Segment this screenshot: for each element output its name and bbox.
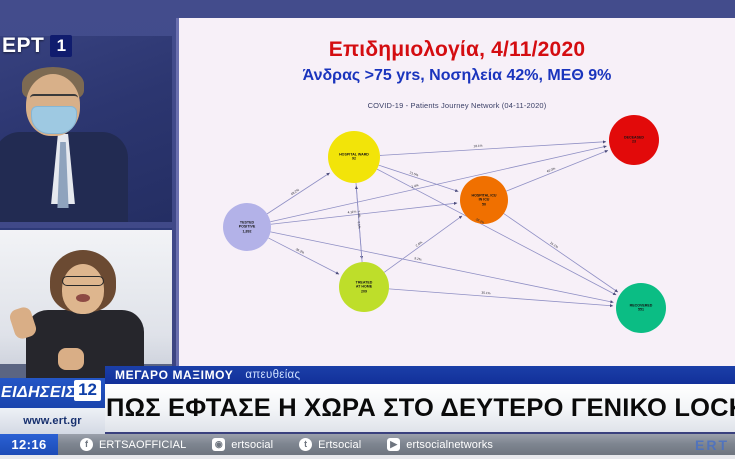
interpreter-face bbox=[62, 264, 104, 314]
network-node-tested_positive[interactable] bbox=[223, 203, 271, 251]
patient-journey-network: 48.2%4.11%36.2%1.4%9.2%31.5%18.1%7.3%38.… bbox=[179, 112, 735, 347]
sign-language-video-panel bbox=[0, 228, 172, 380]
social-media-bar: 12:16 fERTSAOFFICIAL◉ertsocialtErtsocial… bbox=[0, 434, 735, 455]
network-edge bbox=[271, 232, 614, 303]
social-account[interactable]: tErtsocial bbox=[299, 438, 361, 451]
network-edge bbox=[506, 150, 608, 191]
footer-line bbox=[0, 455, 735, 459]
social-account[interactable]: ▶ertsocialnetworks bbox=[387, 438, 493, 451]
program-badge: ΕΙΔΗΣΕΙΣ 12 www.ert.gr bbox=[0, 378, 105, 434]
slide-subtitle: Άνδρας >75 yrs, Νοσηλεία 42%, ΜΕΘ 9% bbox=[179, 67, 735, 85]
social-account-name: Ertsocial bbox=[318, 439, 361, 451]
network-edge bbox=[271, 203, 457, 224]
location-label: ΜΕΓΑΡΟ ΜΑΞΙΜΟΥ bbox=[115, 368, 233, 382]
social-account-name: ertsocialnetworks bbox=[406, 439, 493, 451]
social-account[interactable]: ◉ertsocial bbox=[212, 438, 273, 451]
presentation-slide: Επιδημιολογία, 4/11/2020 Άνδρας >75 yrs,… bbox=[176, 18, 735, 366]
channel-logo: ΕΡΤ 1 bbox=[0, 32, 72, 60]
slide-title: Επιδημιολογία, 4/11/2020 bbox=[179, 38, 735, 62]
network-svg bbox=[179, 112, 735, 347]
website-row: www.ert.gr bbox=[0, 408, 105, 434]
location-strip: ΜΕΓΑΡΟ ΜΑΞΙΜΟΥ απευθείας bbox=[105, 366, 735, 384]
website-label: www.ert.gr bbox=[23, 415, 81, 427]
social-account-name: ERTSAOFFICIAL bbox=[99, 439, 186, 451]
network-edge bbox=[267, 173, 330, 214]
network-node-hospital_ward[interactable] bbox=[328, 131, 380, 183]
program-number: 12 bbox=[74, 380, 101, 401]
twitter-icon: t bbox=[299, 438, 312, 451]
live-tag: απευθείας bbox=[245, 369, 300, 381]
network-node-treated_at_home[interactable] bbox=[339, 262, 389, 312]
lower-third: ΜΕΓΑΡΟ ΜΑΞΙΜΟΥ απευθείας ΠΩΣ ΕΦΤΑΣΕ Η ΧΩ… bbox=[0, 366, 735, 459]
network-node-hospital_icu[interactable] bbox=[460, 176, 508, 224]
social-account-name: ertsocial bbox=[231, 439, 273, 451]
ert-watermark: ERT bbox=[695, 437, 735, 453]
program-name-row: ΕΙΔΗΣΕΙΣ 12 bbox=[0, 378, 105, 408]
clock: 12:16 bbox=[0, 434, 58, 455]
youtube-icon: ▶ bbox=[387, 438, 400, 451]
network-node-recovered[interactable] bbox=[616, 283, 666, 333]
network-edge bbox=[380, 142, 606, 156]
interpreter-mouth bbox=[76, 294, 90, 302]
social-account[interactable]: fERTSAOFFICIAL bbox=[80, 438, 186, 451]
network-edge bbox=[384, 216, 462, 272]
social-accounts-list: fERTSAOFFICIAL◉ertsocialtErtsocial▶ertso… bbox=[58, 438, 695, 451]
speaker-glasses-icon bbox=[30, 94, 78, 105]
broadcast-screen: ΕΡΤ 1 Επιδημιολογία, 4/11/2020 bbox=[0, 0, 735, 459]
network-edge bbox=[504, 214, 618, 293]
channel-logo-number: 1 bbox=[50, 35, 72, 57]
instagram-icon: ◉ bbox=[212, 438, 225, 451]
network-edge bbox=[379, 165, 459, 191]
speaker-video-panel bbox=[0, 36, 172, 222]
headline-bar: ΠΩΣ ΕΦΤΑΣΕ Η ΧΩΡΑ ΣΤΟ ΔΕΥΤΕΡΟ ΓΕΝΙΚΟ LOC… bbox=[105, 384, 735, 432]
video-column: ΕΡΤ 1 bbox=[0, 14, 172, 366]
network-edge bbox=[389, 289, 613, 306]
program-name: ΕΙΔΗΣΕΙΣ bbox=[0, 384, 76, 402]
facebook-icon: f bbox=[80, 438, 93, 451]
headline-text: ΠΩΣ ΕΦΤΑΣΕ Η ΧΩΡΑ ΣΤΟ ΔΕΥΤΕΡΟ ΓΕΝΙΚΟ LOC… bbox=[105, 394, 735, 423]
network-edge-label: 7.3% bbox=[356, 210, 361, 218]
network-node-deceased[interactable] bbox=[609, 115, 659, 165]
speaker-face-mask bbox=[31, 106, 77, 134]
network-chart-caption: COVID-19 - Patients Journey Network (04-… bbox=[179, 101, 735, 110]
channel-logo-text: ΕΡΤ bbox=[2, 34, 44, 58]
network-edge bbox=[270, 146, 606, 222]
interpreter-glasses-icon bbox=[62, 276, 104, 286]
